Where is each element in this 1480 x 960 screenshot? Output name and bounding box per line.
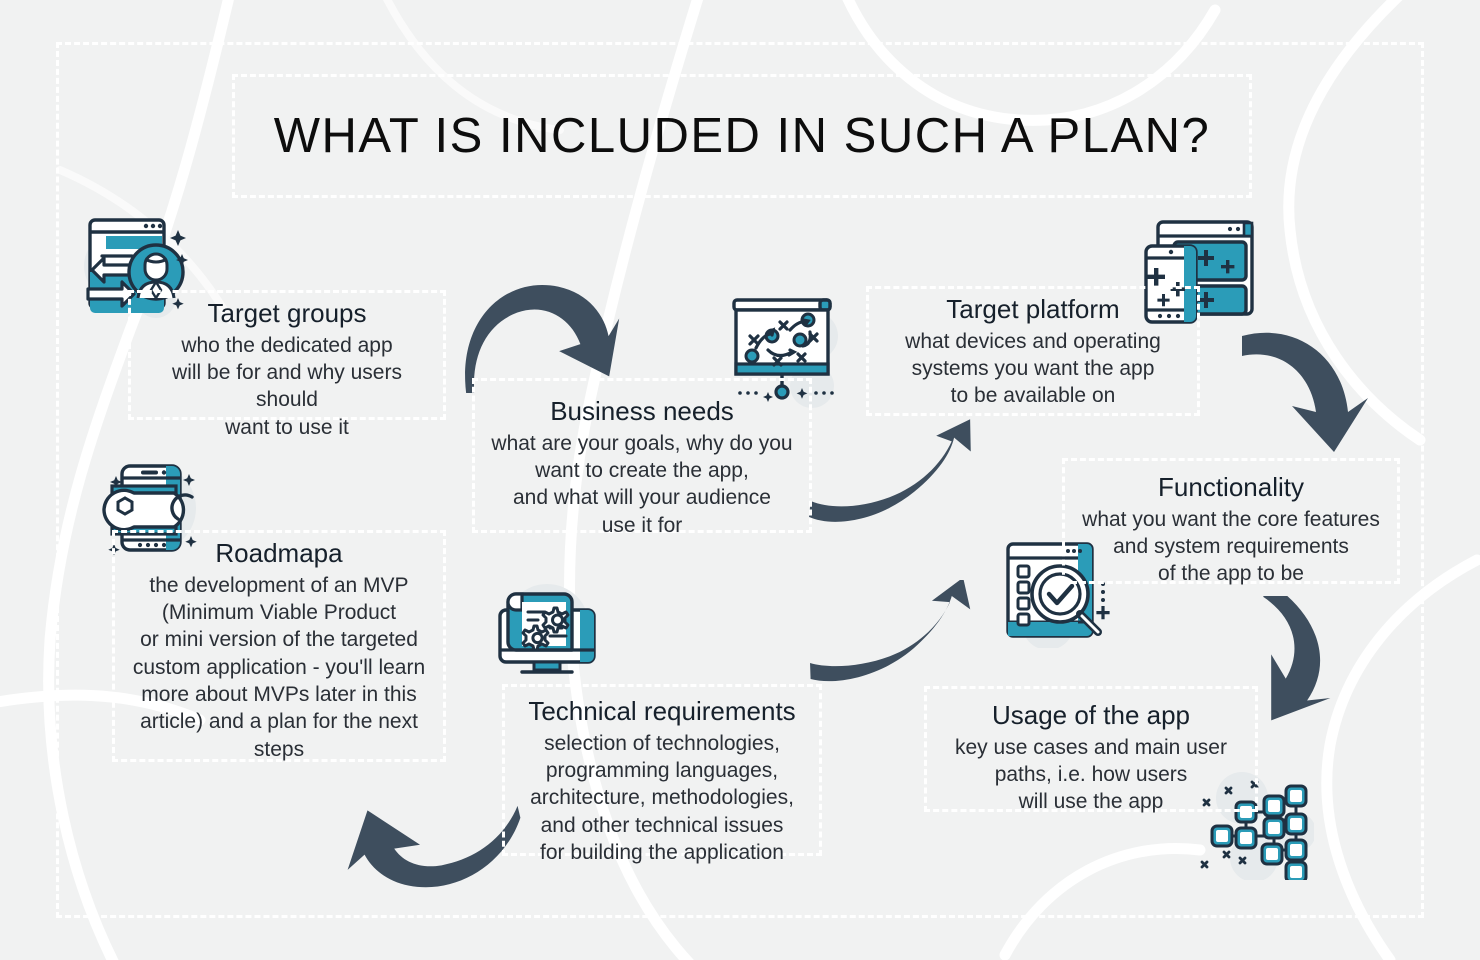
block-desc-target-groups: who the dedicated app will be for and wh… — [139, 332, 435, 441]
block-title-technical-requirements: Technical requirements — [513, 697, 811, 727]
block-roadmapa: Roadmapa the development of an MVP (Mini… — [112, 530, 446, 762]
block-usage-of-the-app: Usage of the app key use cases and main … — [924, 686, 1258, 812]
block-title-business-needs: Business needs — [483, 397, 801, 427]
block-desc-functionality: what you want the core features and syst… — [1073, 506, 1389, 588]
block-technical-requirements: Technical requirements selection of tech… — [502, 684, 822, 856]
page-title: WHAT IS INCLUDED IN SUCH A PLAN? — [274, 108, 1211, 164]
block-desc-usage-of-the-app: key use cases and main user paths, i.e. … — [935, 734, 1247, 816]
block-target-platform: Target platform what devices and operati… — [866, 286, 1200, 416]
block-title-target-groups: Target groups — [139, 299, 435, 329]
block-target-groups: Target groups who the dedicated app will… — [128, 290, 446, 420]
monitor-gears-icon — [492, 572, 602, 682]
block-desc-business-needs: what are your goals, why do you want to … — [483, 430, 801, 539]
block-business-needs: Business needs what are your goals, why … — [472, 378, 812, 533]
block-desc-roadmapa: the development of an MVP (Minimum Viabl… — [123, 572, 435, 763]
block-title-usage-of-the-app: Usage of the app — [935, 701, 1247, 731]
block-desc-technical-requirements: selection of technologies, programming l… — [513, 730, 811, 866]
title-frame: WHAT IS INCLUDED IN SUCH A PLAN? — [232, 74, 1252, 198]
block-title-functionality: Functionality — [1073, 473, 1389, 503]
block-title-target-platform: Target platform — [877, 295, 1189, 325]
block-title-roadmapa: Roadmapa — [123, 539, 435, 569]
infographic-canvas: WHAT IS INCLUDED IN SUCH A PLAN? — [0, 0, 1480, 960]
block-functionality: Functionality what you want the core fea… — [1062, 458, 1400, 584]
block-desc-target-platform: what devices and operating systems you w… — [877, 328, 1189, 410]
